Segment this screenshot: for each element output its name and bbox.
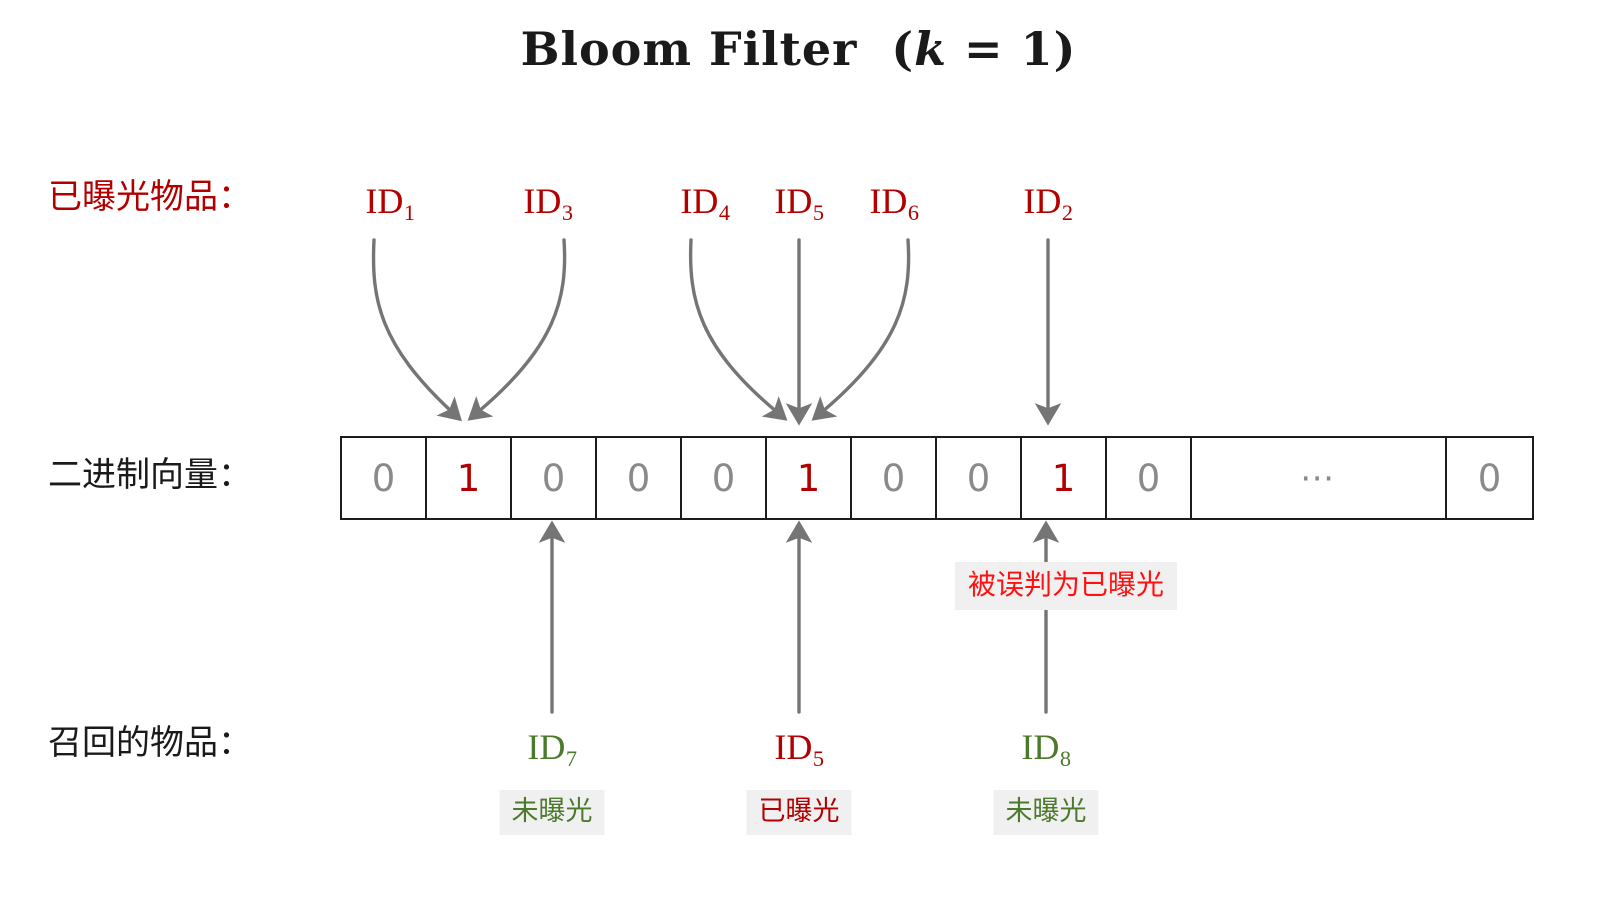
bit-cell-8[interactable]: 1	[1022, 438, 1107, 518]
exposed-id-token-3: ID3	[523, 183, 572, 219]
exposed-id-name-3: ID	[523, 181, 561, 221]
binary-vector: 0 1 0 0 0 1 0 0 1 0 ⋯ 0	[340, 436, 1534, 520]
exposed-id-token-4: ID4	[680, 183, 729, 219]
exposed-id-token-2: ID2	[1023, 183, 1072, 219]
exposed-id-token-5: ID5	[774, 183, 823, 219]
exposed-id-subscript-4: 4	[719, 200, 730, 225]
binary-vector-label: 二进制向量：	[48, 458, 252, 492]
exposed-id-name-1: ID	[365, 181, 403, 221]
bit-cell-1[interactable]: 1	[427, 438, 512, 518]
recalled-id-subscript-8: 8	[1060, 746, 1071, 771]
exposed-id-name-4: ID	[680, 181, 718, 221]
bit-cell-0[interactable]: 0	[342, 438, 427, 518]
hash-arrow-id6	[822, 240, 909, 412]
exposed-id-subscript-6: 6	[908, 200, 919, 225]
bit-cell-5[interactable]: 1	[767, 438, 852, 518]
hash-arrow-id1	[374, 240, 452, 412]
bit-cell-4[interactable]: 0	[682, 438, 767, 518]
page-title: Bloom Filter (k = 1)	[0, 22, 1597, 76]
page-title-k-symbol: k	[914, 22, 947, 76]
recalled-items-label: 召回的物品：	[48, 726, 252, 760]
recalled-id-name-5: ID	[774, 727, 812, 767]
result-badge-id8: 未曝光	[994, 790, 1099, 835]
bit-cell-ellipsis: ⋯	[1192, 438, 1447, 518]
exposed-id-token-1: ID1	[365, 183, 414, 219]
exposed-id-name-2: ID	[1023, 181, 1061, 221]
hash-arrow-id3	[478, 240, 565, 412]
bit-cell-9[interactable]: 0	[1107, 438, 1192, 518]
exposed-id-subscript-2: 2	[1062, 200, 1073, 225]
result-badge-id5: 已曝光	[747, 790, 852, 835]
exposed-id-name-5: ID	[774, 181, 812, 221]
exposed-id-subscript-5: 5	[813, 200, 824, 225]
bit-cell-last[interactable]: 0	[1447, 438, 1532, 518]
page-title-k-equation: = 1)	[947, 22, 1076, 76]
exposed-items-label: 已曝光物品：	[48, 180, 252, 214]
recalled-id-subscript-5: 5	[813, 746, 824, 771]
exposed-id-token-6: ID6	[869, 183, 918, 219]
exposed-id-name-6: ID	[869, 181, 907, 221]
recalled-id-token-7: ID7	[527, 729, 576, 765]
recalled-id-token-5: ID5	[774, 729, 823, 765]
recalled-id-token-8: ID8	[1021, 729, 1070, 765]
bit-cell-2[interactable]: 0	[512, 438, 597, 518]
bit-cell-3[interactable]: 0	[597, 438, 682, 518]
recalled-id-subscript-7: 7	[566, 746, 577, 771]
bit-cell-6[interactable]: 0	[852, 438, 937, 518]
result-badge-id7: 未曝光	[500, 790, 605, 835]
page-title-main: Bloom Filter (	[521, 22, 915, 76]
exposed-id-subscript-1: 1	[404, 200, 415, 225]
recalled-id-name-7: ID	[527, 727, 565, 767]
exposed-id-subscript-3: 3	[562, 200, 573, 225]
false-positive-note: 被误判为已曝光	[955, 562, 1177, 610]
hash-arrow-id4	[691, 240, 777, 412]
recalled-id-name-8: ID	[1021, 727, 1059, 767]
bit-cell-7[interactable]: 0	[937, 438, 1022, 518]
